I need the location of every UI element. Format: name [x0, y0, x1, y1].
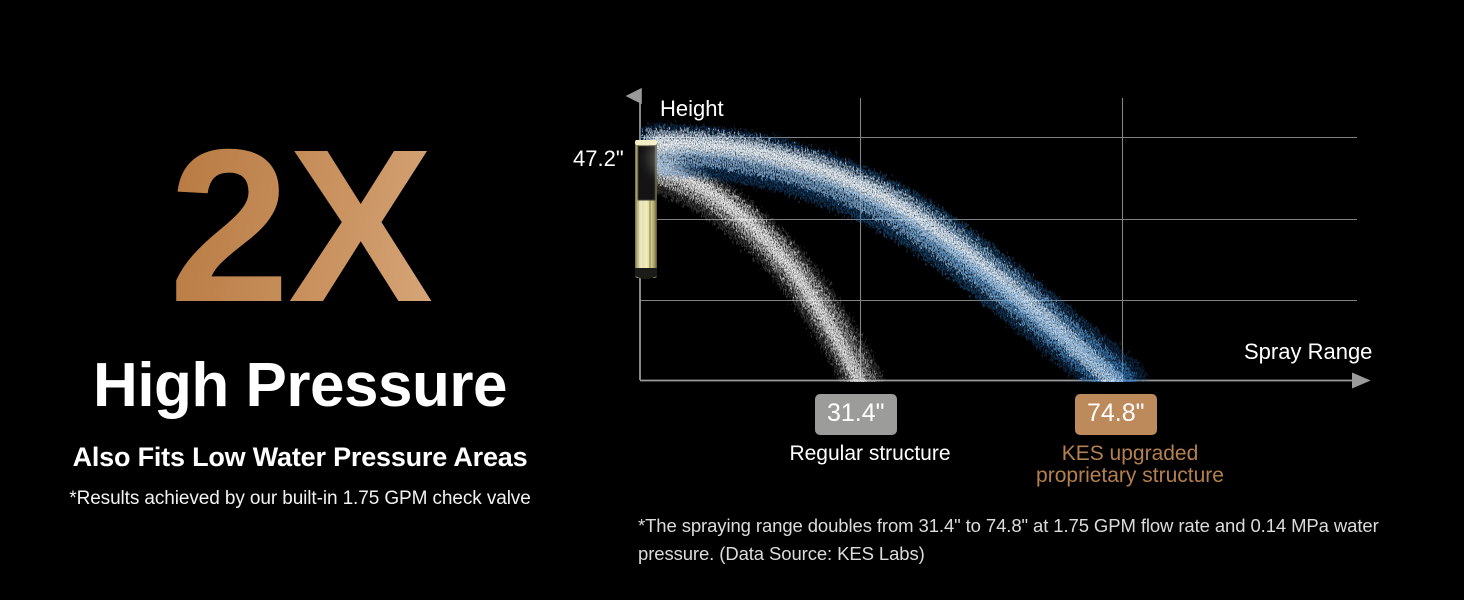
product-feature-banner: 2X High Pressure Also Fits Low Water Pre… — [0, 0, 1464, 600]
spray-trajectory-chart — [560, 0, 1464, 600]
nozzle-height-label: 47.2" — [573, 148, 624, 170]
spray-jet-kes — [656, 144, 1122, 381]
left-footnote: *Results achieved by our built-in 1.75 G… — [0, 487, 600, 511]
y-axis-label: Height — [660, 98, 724, 120]
subheadline: Also Fits Low Water Pressure Areas — [0, 441, 600, 473]
spray-jets-group — [656, 144, 1122, 381]
left-headline-panel: 2X High Pressure Also Fits Low Water Pre… — [0, 0, 600, 600]
page-title: High Pressure — [0, 352, 600, 420]
multiplier-headline: 2X — [0, 118, 600, 336]
legend-label-kes-line2: proprietary structure — [975, 465, 1285, 487]
spray-range-chart-panel: Height Spray Range 47.2" 31.4" 74.8" Reg… — [560, 0, 1464, 600]
legend-label-kes-line1: KES upgraded — [975, 443, 1285, 465]
x-axis-label: Spray Range — [1244, 341, 1372, 363]
chart-footnote: *The spraying range doubles from 31.4" t… — [638, 512, 1383, 568]
range-badge-kes: 74.8" — [1075, 394, 1157, 435]
legend-label-kes: KES upgraded proprietary structure — [975, 443, 1285, 487]
nozzle-spray-glow — [648, 139, 680, 177]
range-badge-regular: 31.4" — [815, 394, 897, 435]
